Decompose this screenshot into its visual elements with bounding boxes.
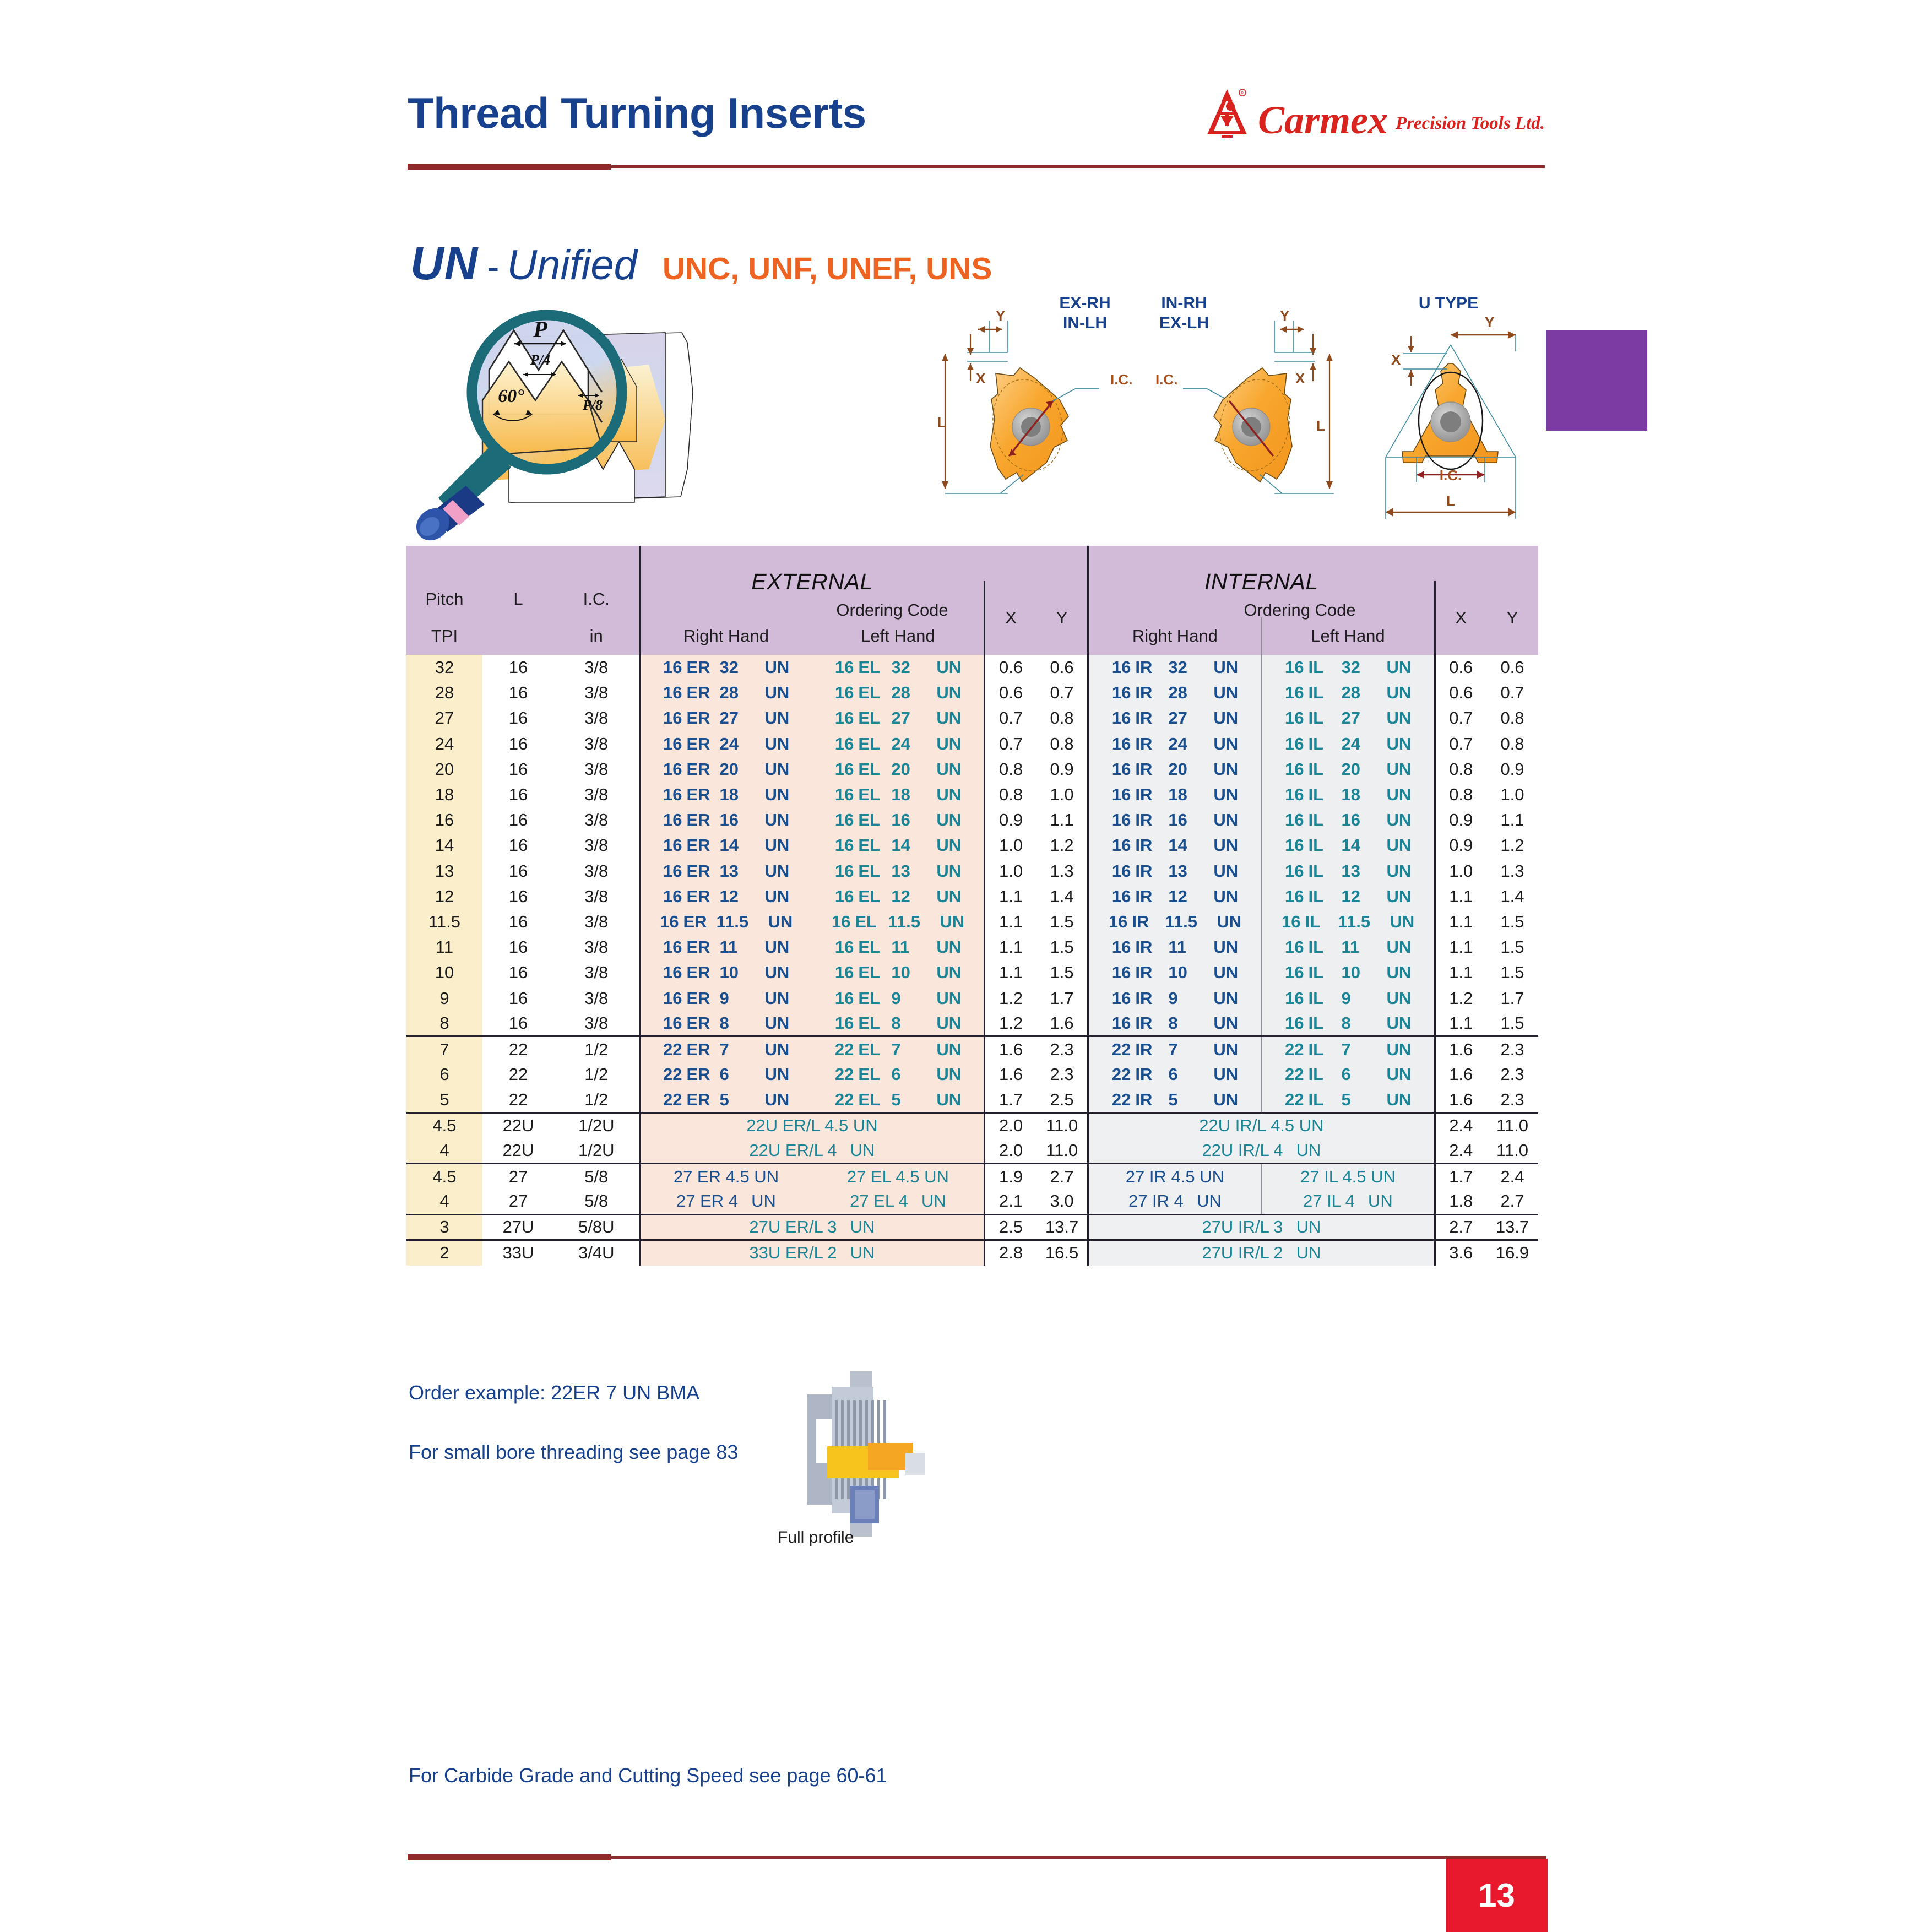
cell-l: 33U [482,1240,554,1265]
table-row: 8163/816ER8UN16EL8UN1.21.616IR8UN16IL8UN… [406,1011,1538,1036]
cell-l: 16 [482,833,554,858]
cell-internal-x: 1.6 [1435,1087,1486,1112]
cell-internal-lh: 16IL24UN [1261,731,1435,757]
cell-external-rh: 16ER11.5UN [639,909,812,935]
cell-internal-y: 1.7 [1486,985,1538,1011]
table-row: 6221/222ER6UN22EL6UN1.62.322IR6UN22IL6UN… [406,1062,1538,1087]
cell-external-lh: 16EL16UN [812,807,984,833]
cell-internal-y: 2.3 [1486,1062,1538,1087]
brand-logo: R Carmex Precision Tools Ltd. [1204,88,1545,139]
cell-internal-x: 0.6 [1435,655,1486,680]
cell-external-lh: 16EL24UN [812,731,984,757]
cell-external-lh: 16EL27UN [812,705,984,731]
cell-external-y: 2.5 [1036,1087,1088,1112]
label-angle-60: 60° [498,386,524,406]
cell-external-lh: 16EL20UN [812,757,984,782]
cell-pitch: 28 [406,680,482,705]
table-row: 14163/816ER14UN16EL14UN1.01.216IR14UN16I… [406,833,1538,858]
cell-external-y: 1.5 [1036,909,1088,935]
cell-external-x: 1.1 [985,884,1036,909]
cell-internal-y: 1.3 [1486,859,1538,884]
cell-internal-x: 2.4 [1435,1112,1486,1138]
table-row: 327U5/8U27U ER/L 3 UN2.513.727U IR/L 3 U… [406,1214,1538,1240]
cell-ic: 1/2 [554,1087,639,1112]
cell-external-y: 1.5 [1036,960,1088,985]
cell-external-y: 0.8 [1036,705,1088,731]
cell-external-y: 1.6 [1036,1011,1088,1036]
cell-pitch: 18 [406,782,482,807]
diagram-title-in-lh: IN-LH [1063,314,1107,332]
diagram-title-in-rh: IN-RH [1161,294,1207,312]
cell-external-x: 0.6 [985,655,1036,680]
cell-ic: 3/8 [554,909,639,935]
cell-internal-y: 1.2 [1486,833,1538,858]
cell-external-lh: 16EL13UN [812,859,984,884]
cell-internal-rh: 16IR24UN [1088,731,1262,757]
carmex-triangle-icon: R [1204,88,1250,139]
cell-l: 27 [482,1189,554,1214]
cell-external-code: 27U ER/L 3 UN [639,1214,985,1240]
cell-internal-rh: 16IR28UN [1088,680,1262,705]
cell-internal-lh: 16IL32UN [1261,655,1435,680]
cell-internal-lh: 16IL14UN [1261,833,1435,858]
cell-internal-lh: 22IL6UN [1261,1062,1435,1087]
cell-internal-rh: 16IR12UN [1088,884,1262,909]
cell-external-rh: 16ER9UN [639,985,812,1011]
cell-external-rh: 22ER6UN [639,1062,812,1087]
cell-l: 16 [482,909,554,935]
header-ic-unit: in [554,617,639,655]
cell-internal-x: 1.2 [1435,985,1486,1011]
cell-external-lh: 16EL10UN [812,960,984,985]
diagram-label-l-utype: L [1446,492,1455,509]
cell-internal-code: 22U IR/L 4.5 UN [1088,1112,1435,1138]
cell-external-rh: 16ER13UN [639,859,812,884]
cell-external-lh: 22EL6UN [812,1062,984,1087]
cell-external-rh: 16ER27UN [639,705,812,731]
cell-internal-lh: 16IL10UN [1261,960,1435,985]
cell-pitch: 14 [406,833,482,858]
cell-external-rh: 16ER12UN [639,884,812,909]
cell-ic: 1/2U [554,1138,639,1164]
cell-internal-y: 2.3 [1486,1087,1538,1112]
cell-external-rh: 16ER10UN [639,960,812,985]
footer-divider-thick [408,1854,611,1860]
cell-ic: 5/8 [554,1164,639,1189]
header-spacer-l2 [482,617,554,655]
cell-l: 16 [482,705,554,731]
table-row: 12163/816ER12UN16EL12UN1.11.416IR12UN16I… [406,884,1538,909]
cell-internal-rh: 16IR14UN [1088,833,1262,858]
section-name: Unified [507,241,637,289]
cell-internal-lh: 16IL18UN [1261,782,1435,807]
cell-external-x: 1.0 [985,833,1036,858]
cell-internal-rh: 22IR5UN [1088,1087,1262,1112]
cell-ic: 3/8 [554,655,639,680]
cell-external-lh: 16EL32UN [812,655,984,680]
cell-internal-y: 1.0 [1486,782,1538,807]
diagram-title-ex-lh: EX-LH [1159,314,1209,332]
cell-external-y: 0.8 [1036,731,1088,757]
cell-internal-lh: 16IL28UN [1261,680,1435,705]
cell-ic: 1/2 [554,1062,639,1087]
cell-external-x: 1.1 [985,960,1036,985]
diagram-label-x-utype: X [1391,351,1401,368]
header-spacer-int-y [1486,546,1538,581]
cell-ic: 3/8 [554,782,639,807]
cell-internal-y: 2.4 [1486,1164,1538,1189]
cell-internal-y: 1.5 [1486,960,1538,985]
cell-internal-lh: 27 IL 4.5 UN [1261,1164,1435,1189]
cell-internal-lh: 22IL7UN [1261,1036,1435,1062]
cell-external-lh: 16EL28UN [812,680,984,705]
cell-internal-x: 1.1 [1435,1011,1486,1036]
full-profile-tool-image [797,1366,946,1542]
section-title: UN - Unified UNC, UNF, UNEF, UNS [410,237,992,290]
diagram-label-y-left: Y [996,307,1005,324]
cell-external-x: 1.0 [985,859,1036,884]
cell-l: 16 [482,680,554,705]
cell-external-y: 13.7 [1036,1214,1088,1240]
header-int-ordering-code: Ordering Code [1135,600,1465,620]
cell-external-y: 1.0 [1036,782,1088,807]
table-row: 11.5163/816ER11.5UN16EL11.5UN1.11.516IR1… [406,909,1538,935]
cell-internal-y: 0.9 [1486,757,1538,782]
header-int-left-hand: Left Hand [1261,617,1435,655]
cell-pitch: 4.5 [406,1164,482,1189]
cell-internal-x: 1.6 [1435,1062,1486,1087]
cell-pitch: 27 [406,705,482,731]
cell-internal-lh: 16IL13UN [1261,859,1435,884]
full-profile-label: Full profile [778,1528,854,1547]
cell-internal-y: 16.9 [1486,1240,1538,1265]
cell-internal-lh: 16IL8UN [1261,1011,1435,1036]
table-row: 4.5275/827 ER 4.5 UN27 EL 4.5 UN1.92.727… [406,1164,1538,1189]
cell-ic: 3/8 [554,985,639,1011]
cell-internal-x: 0.9 [1435,807,1486,833]
cell-external-rh: 27 ER 4.5 UN [639,1164,812,1189]
cell-internal-y: 1.5 [1486,935,1538,960]
cell-external-x: 2.8 [985,1240,1036,1265]
cell-ic: 3/8 [554,807,639,833]
cell-l: 16 [482,859,554,884]
cell-l: 16 [482,757,554,782]
label-p4: P/4 [530,352,550,368]
cell-external-y: 1.5 [1036,935,1088,960]
cell-ic: 3/8 [554,833,639,858]
cell-internal-rh: 16IR27UN [1088,705,1262,731]
cell-external-x: 0.8 [985,757,1036,782]
cell-external-x: 0.7 [985,731,1036,757]
cell-pitch: 9 [406,985,482,1011]
cell-internal-rh: 16IR16UN [1088,807,1262,833]
cell-internal-y: 11.0 [1486,1138,1538,1164]
header-l: L [482,581,554,617]
cell-pitch: 5 [406,1087,482,1112]
cell-l: 16 [482,655,554,680]
cell-ic: 3/8 [554,884,639,909]
header-ext-left-hand: Left Hand [812,617,984,655]
cell-external-x: 1.6 [985,1036,1036,1062]
cell-external-y: 1.7 [1036,985,1088,1011]
cell-pitch: 2 [406,1240,482,1265]
header-spacer-int-x [1435,546,1486,581]
cell-external-y: 1.4 [1036,884,1088,909]
cell-l: 22U [482,1138,554,1164]
cell-external-code: 33U ER/L 2 UN [639,1240,985,1265]
cell-ic: 5/8 [554,1189,639,1214]
cell-ic: 3/8 [554,731,639,757]
cell-internal-lh: 16IL11UN [1261,935,1435,960]
cell-external-rh: 16ER32UN [639,655,812,680]
cell-external-lh: 27 EL 4.5 UN [812,1164,984,1189]
cell-internal-rh: 16IR20UN [1088,757,1262,782]
cell-internal-y: 2.3 [1486,1036,1538,1062]
cell-internal-y: 1.5 [1486,909,1538,935]
page-title: Thread Turning Inserts [408,88,866,138]
cell-internal-rh: 16IR13UN [1088,859,1262,884]
cell-pitch: 11.5 [406,909,482,935]
cell-external-rh: 16ER24UN [639,731,812,757]
cell-pitch: 24 [406,731,482,757]
cell-internal-y: 0.6 [1486,655,1538,680]
header-row-sublabels: TPI in Right Hand Left Hand Right Hand L… [406,617,1538,655]
cell-internal-y: 1.1 [1486,807,1538,833]
table-row: 5221/222ER5UN22EL5UN1.72.522IR5UN22IL5UN… [406,1087,1538,1112]
diagram-label-y-mid: Y [1280,307,1289,324]
cell-internal-rh: 16IR32UN [1088,655,1262,680]
cell-external-rh: 16ER16UN [639,807,812,833]
cell-external-y: 0.6 [1036,655,1088,680]
cell-external-code: 22U ER/L 4 UN [639,1138,985,1164]
cell-ic: 3/8 [554,705,639,731]
cell-external-rh: 22ER7UN [639,1036,812,1062]
cell-internal-x: 0.7 [1435,705,1486,731]
header-spacer-ext-x [985,546,1036,581]
table-row: 7221/222ER7UN22EL7UN1.62.322IR7UN22IL7UN… [406,1036,1538,1062]
cell-l: 16 [482,1011,554,1036]
cell-ic: 1/2U [554,1112,639,1138]
diagram-title-ex-rh: EX-RH [1059,294,1110,312]
cell-internal-x: 3.6 [1435,1240,1486,1265]
cell-internal-x: 2.4 [1435,1138,1486,1164]
cell-external-x: 2.5 [985,1214,1036,1240]
cell-external-lh: 16EL9UN [812,985,984,1011]
brand-tagline: Precision Tools Ltd. [1396,113,1545,139]
cell-internal-y: 1.4 [1486,884,1538,909]
header-spacer-pitch [406,546,482,581]
cell-internal-x: 0.8 [1435,782,1486,807]
cell-pitch: 4 [406,1189,482,1214]
cell-l: 22U [482,1112,554,1138]
cell-internal-lh: 16IL11.5UN [1261,909,1435,935]
cell-internal-lh: 16IL27UN [1261,705,1435,731]
cell-external-lh: 22EL5UN [812,1087,984,1112]
cell-ic: 3/8 [554,859,639,884]
table-row: 27163/816ER27UN16EL27UN0.70.816IR27UN16I… [406,705,1538,731]
cell-internal-rh: 16IR9UN [1088,985,1262,1011]
cell-external-rh: 16ER28UN [639,680,812,705]
cell-external-y: 1.1 [1036,807,1088,833]
cell-internal-rh: 22IR7UN [1088,1036,1262,1062]
brand-name: Carmex [1258,101,1388,139]
cell-l: 16 [482,884,554,909]
cell-pitch: 10 [406,960,482,985]
cell-pitch: 8 [406,1011,482,1036]
cell-external-rh: 22ER5UN [639,1087,812,1112]
cell-external-x: 1.1 [985,935,1036,960]
cell-internal-lh: 22IL5UN [1261,1087,1435,1112]
cell-internal-x: 0.6 [1435,680,1486,705]
cell-external-x: 1.7 [985,1087,1036,1112]
cell-ic: 3/8 [554,935,639,960]
cell-l: 16 [482,960,554,985]
cell-ic: 3/8 [554,960,639,985]
header-ic: I.C. [554,581,639,617]
cell-pitch: 4.5 [406,1112,482,1138]
cell-external-y: 3.0 [1036,1189,1088,1214]
cell-external-x: 2.0 [985,1138,1036,1164]
cell-external-rh: 16ER20UN [639,757,812,782]
cell-internal-x: 2.7 [1435,1214,1486,1240]
cell-external-lh: 22EL7UN [812,1036,984,1062]
cell-pitch: 6 [406,1062,482,1087]
cell-internal-y: 11.0 [1486,1112,1538,1138]
cell-external-x: 1.2 [985,1011,1036,1036]
cell-internal-rh: 16IR11UN [1088,935,1262,960]
table-row: 13163/816ER13UN16EL13UN1.01.316IR13UN16I… [406,859,1538,884]
section-dash: - [478,246,507,287]
thread-insert-spec-table: EXTERNAL INTERNAL Pitch L I.C. X Y X Y T… [406,546,1538,1266]
small-bore-note: For small bore threading see page 83 [409,1441,738,1464]
cell-external-lh: 16EL14UN [812,833,984,858]
page-header: Thread Turning Inserts R Carmex Precisio… [408,83,1545,176]
cell-internal-lh: 16IL12UN [1261,884,1435,909]
cell-internal-y: 1.5 [1486,1011,1538,1036]
table-row: 32163/816ER32UN16EL32UN0.60.616IR32UN16I… [406,655,1538,680]
table-row: 233U3/4U33U ER/L 2 UN2.816.527U IR/L 2 U… [406,1240,1538,1265]
cell-external-y: 1.3 [1036,859,1088,884]
cell-internal-rh: 16IR11.5UN [1088,909,1262,935]
cell-internal-rh: 27 IR 4.5 UN [1088,1164,1262,1189]
section-index-tab [1546,330,1647,431]
order-example-note: Order example: 22ER 7 UN BMA [409,1381,699,1404]
insert-geometry-diagrams: EX-RH IN-LH I.C. Y X L IN-RH [936,281,1548,529]
cell-internal-x: 1.7 [1435,1164,1486,1189]
cell-external-x: 0.9 [985,807,1036,833]
table-row: 10163/816ER10UN16EL10UN1.11.516IR10UN16I… [406,960,1538,985]
diagram-label-y-utype: Y [1485,314,1494,330]
diagram-label-l-left: L [937,414,946,431]
cell-pitch: 7 [406,1036,482,1062]
cell-l: 22 [482,1062,554,1087]
header-spacer-l [482,546,554,581]
header-ext-right-hand: Right Hand [639,617,812,655]
cell-ic: 3/8 [554,757,639,782]
cell-ic: 1/2 [554,1036,639,1062]
cell-ic: 3/8 [554,680,639,705]
cell-internal-code: 27U IR/L 3 UN [1088,1214,1435,1240]
cell-external-x: 2.1 [985,1189,1036,1214]
diagram-label-x-left: X [976,370,986,387]
diagram-label-ic-mid: I.C. [1155,371,1177,388]
diagram-label-l-mid: L [1316,417,1325,434]
cell-external-rh: 16ER18UN [639,782,812,807]
cell-external-lh: 16EL18UN [812,782,984,807]
header-divider-thick [408,164,611,170]
table-row: 20163/816ER20UN16EL20UN0.80.916IR20UN16I… [406,757,1538,782]
cell-internal-rh: 16IR8UN [1088,1011,1262,1036]
cell-external-x: 1.1 [985,909,1036,935]
cell-internal-x: 1.1 [1435,909,1486,935]
header-pitch: Pitch [406,581,482,617]
cell-external-x: 0.8 [985,782,1036,807]
cell-internal-lh: 16IL20UN [1261,757,1435,782]
cell-internal-lh: 16IL16UN [1261,807,1435,833]
cell-internal-x: 1.1 [1435,935,1486,960]
cell-external-x: 1.9 [985,1164,1036,1189]
cell-l: 27U [482,1214,554,1240]
cell-internal-rh: 22IR6UN [1088,1062,1262,1087]
cell-l: 16 [482,782,554,807]
cell-l: 16 [482,935,554,960]
table-row: 24163/816ER24UN16EL24UN0.70.816IR24UN16I… [406,731,1538,757]
cell-internal-x: 1.8 [1435,1189,1486,1214]
cell-external-x: 0.6 [985,680,1036,705]
cell-internal-x: 1.1 [1435,960,1486,985]
table-body: 32163/816ER32UN16EL32UN0.60.616IR32UN16I… [406,655,1538,1266]
carbide-grade-note: For Carbide Grade and Cutting Speed see … [409,1764,887,1787]
cell-internal-y: 0.7 [1486,680,1538,705]
cell-l: 27 [482,1164,554,1189]
cell-l: 22 [482,1036,554,1062]
cell-external-x: 2.0 [985,1112,1036,1138]
diagram-title-u-type: U TYPE [1419,294,1478,312]
cell-external-y: 16.5 [1036,1240,1088,1265]
cell-internal-rh: 16IR10UN [1088,960,1262,985]
page-number: 13 [1446,1859,1548,1932]
cell-external-rh: 16ER8UN [639,1011,812,1036]
cell-external-y: 0.7 [1036,680,1088,705]
cell-internal-lh: 27 IL 4 UN [1261,1189,1435,1214]
cell-external-lh: 16EL12UN [812,884,984,909]
cell-external-x: 0.7 [985,705,1036,731]
cell-external-rh: 16ER14UN [639,833,812,858]
cell-internal-y: 0.8 [1486,705,1538,731]
cell-l: 16 [482,807,554,833]
cell-pitch: 20 [406,757,482,782]
cell-ic: 5/8U [554,1214,639,1240]
header-int-y: Y [1486,581,1538,655]
cell-internal-x: 0.7 [1435,731,1486,757]
header-int-right-hand: Right Hand [1088,617,1262,655]
cell-external-lh: 16EL8UN [812,1011,984,1036]
cell-external-lh: 16EL11.5UN [812,909,984,935]
table-row: 4275/827 ER 4 UN27 EL 4 UN2.13.027 IR 4 … [406,1189,1538,1214]
diagram-label-ic-utype: I.C. [1440,467,1462,484]
cell-pitch: 4 [406,1138,482,1164]
cell-internal-y: 13.7 [1486,1214,1538,1240]
cell-internal-rh: 27 IR 4 UN [1088,1189,1262,1214]
table-row: 28163/816ER28UN16EL28UN0.60.716IR28UN16I… [406,680,1538,705]
cell-external-code: 22U ER/L 4.5 UN [639,1112,985,1138]
cell-internal-rh: 16IR18UN [1088,782,1262,807]
cell-external-y: 11.0 [1036,1138,1088,1164]
cell-external-y: 2.3 [1036,1062,1088,1087]
table-row: 9163/816ER9UN16EL9UN1.21.716IR9UN16IL9UN… [406,985,1538,1011]
cell-internal-code: 27U IR/L 2 UN [1088,1240,1435,1265]
cell-external-rh: 16ER11UN [639,935,812,960]
